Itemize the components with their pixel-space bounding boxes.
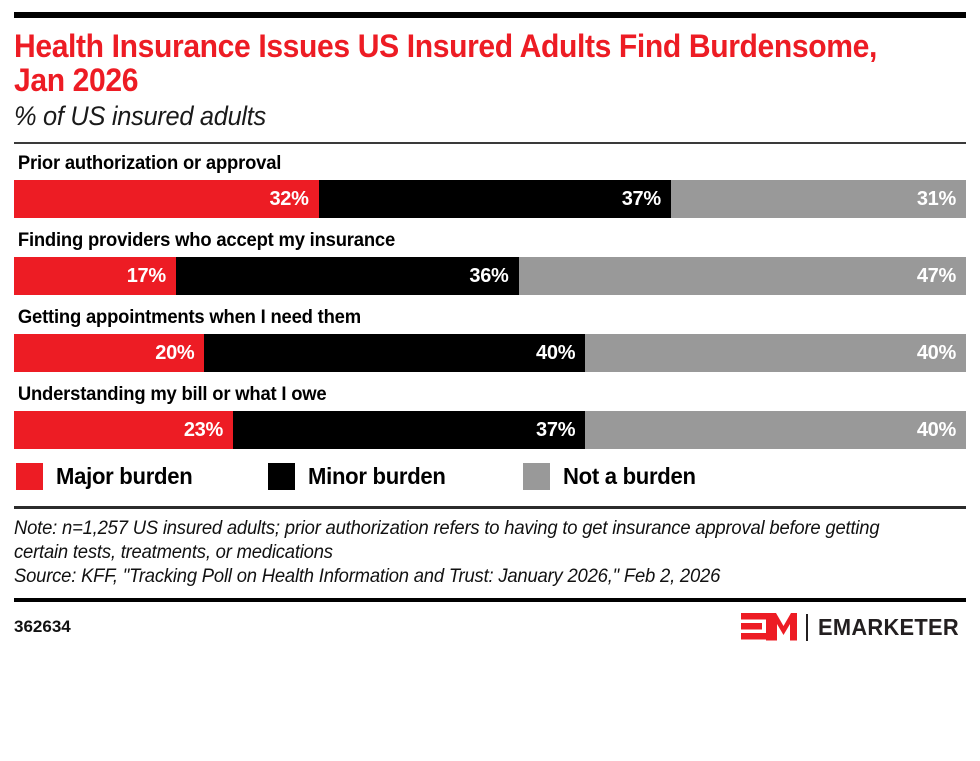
bar-segment: 40% xyxy=(585,411,966,449)
chart-row: Getting appointments when I need them20%… xyxy=(14,302,966,372)
chart-row: Prior authorization or approval32%37%31% xyxy=(14,148,966,218)
bar-segment: 36% xyxy=(176,257,519,295)
legend-swatch xyxy=(268,463,295,490)
footer: 362634 EMARKETER xyxy=(14,612,966,642)
category-label: Prior authorization or approval xyxy=(14,148,937,180)
stacked-bar: 23%37%40% xyxy=(14,411,966,449)
bar-segment: 40% xyxy=(204,334,585,372)
legend-item: Minor burden xyxy=(268,463,451,490)
chart-id: 362634 xyxy=(14,617,71,637)
brand-divider xyxy=(806,614,808,641)
bar-segment: 32% xyxy=(14,180,319,218)
category-label: Getting appointments when I need them xyxy=(14,302,937,334)
bar-segment: 47% xyxy=(519,257,966,295)
chart-notes: Note: n=1,257 US insured adults; prior a… xyxy=(14,517,937,589)
source-text: Source: KFF, "Tracking Poll on Health In… xyxy=(14,565,937,589)
bar-segment: 17% xyxy=(14,257,176,295)
chart-subtitle: % of US insured adults xyxy=(14,101,909,132)
header-divider xyxy=(14,142,966,144)
em-logo-icon xyxy=(741,612,797,642)
stacked-bar-chart: Prior authorization or approval32%37%31%… xyxy=(14,148,966,449)
category-label: Understanding my bill or what I owe xyxy=(14,379,937,411)
stacked-bar: 20%40%40% xyxy=(14,334,966,372)
legend-swatch xyxy=(523,463,550,490)
category-label: Finding providers who accept my insuranc… xyxy=(14,225,937,257)
top-rule xyxy=(14,12,966,18)
chart-row: Understanding my bill or what I owe23%37… xyxy=(14,379,966,449)
legend-item: Not a burden xyxy=(523,463,701,490)
bar-segment: 31% xyxy=(671,180,966,218)
bar-segment: 23% xyxy=(14,411,233,449)
bar-segment: 20% xyxy=(14,334,204,372)
bar-segment: 37% xyxy=(319,180,671,218)
chart-row: Finding providers who accept my insuranc… xyxy=(14,225,966,295)
brand-lockup: EMARKETER xyxy=(741,612,966,642)
note-text: Note: n=1,257 US insured adults; prior a… xyxy=(14,517,937,565)
bar-segment: 40% xyxy=(585,334,966,372)
legend-label: Not a burden xyxy=(563,463,696,490)
legend-label: Major burden xyxy=(56,463,192,490)
stacked-bar: 32%37%31% xyxy=(14,180,966,218)
brand-name: EMARKETER xyxy=(818,614,959,641)
chart-legend: Major burdenMinor burdenNot a burden xyxy=(14,463,966,490)
footer-divider xyxy=(14,598,966,602)
bar-segment: 37% xyxy=(233,411,585,449)
legend-swatch xyxy=(16,463,43,490)
page-title: Health Insurance Issues US Insured Adult… xyxy=(14,29,909,97)
legend-label: Minor burden xyxy=(308,463,446,490)
notes-divider xyxy=(14,506,966,509)
legend-item: Major burden xyxy=(16,463,198,490)
chart-page: Health Insurance Issues US Insured Adult… xyxy=(0,12,980,761)
stacked-bar: 17%36%47% xyxy=(14,257,966,295)
